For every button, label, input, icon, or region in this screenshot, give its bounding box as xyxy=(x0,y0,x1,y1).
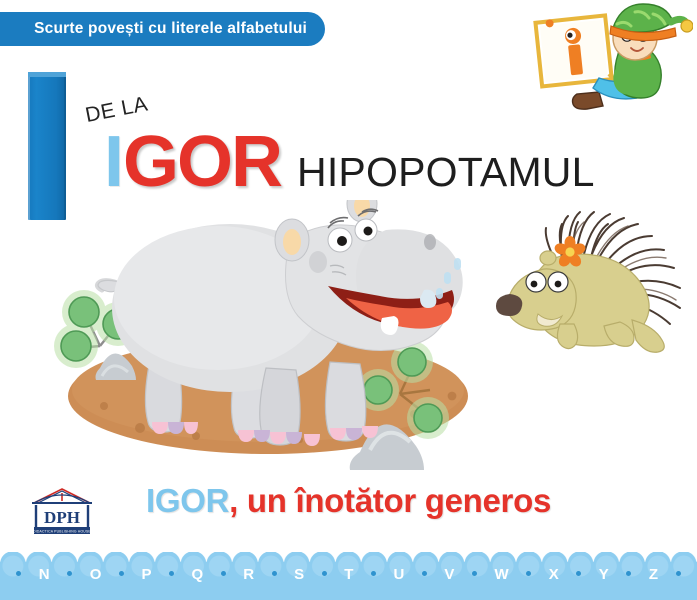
publisher-tagline: DIDACTICA PUBLISHING HOUSE xyxy=(33,529,91,533)
alphabet-letter-x: X xyxy=(549,566,559,583)
publisher-logo: DPH DIDACTICA PUBLISHING HOUSE xyxy=(22,487,102,537)
alphabet-letter-o: O xyxy=(90,566,102,583)
alphabet-dot xyxy=(221,571,226,576)
alphabet-dot xyxy=(422,571,427,576)
alphabet-letter-z: Z xyxy=(649,566,658,583)
alphabet-cell: Y xyxy=(599,568,609,585)
title-name-rest: GOR xyxy=(123,128,281,196)
alphabet-dot xyxy=(16,571,21,576)
alphabet-letter-q: Q xyxy=(192,566,204,583)
alphabet-dot xyxy=(626,571,631,576)
alphabet-cell: T xyxy=(344,568,353,585)
alphabet-cell: Z xyxy=(649,568,658,585)
subtitle-name: IGOR xyxy=(146,482,229,519)
alphabet-dot xyxy=(322,571,327,576)
alphabet-cell: R xyxy=(243,568,254,585)
title-animal: HIPOPOTAMUL xyxy=(297,152,595,193)
alphabet-cell: X xyxy=(549,568,559,585)
alphabet-cell: W xyxy=(494,568,508,585)
series-banner: Scurte povești cu literele alfabetului xyxy=(0,12,325,46)
alphabet-letter-t: T xyxy=(344,566,353,583)
alphabet-cell: O xyxy=(90,568,102,585)
alphabet-letter-v: V xyxy=(444,566,454,583)
alphabet-cell: N xyxy=(39,568,50,585)
subtitle: IGOR, un înotător generos xyxy=(0,482,697,520)
page-title: I GOR HIPOPOTAMUL xyxy=(104,128,595,196)
big-letter-i xyxy=(28,72,66,220)
alphabet-cell: P xyxy=(141,568,151,585)
alphabet-letter-s: S xyxy=(294,566,304,583)
alphabet-strip: NOPQRSTUVWXYZ xyxy=(0,552,697,600)
hippo-eye-left xyxy=(328,218,352,252)
illustration-scene xyxy=(0,200,697,470)
alphabet-letters: NOPQRSTUVWXYZ xyxy=(0,552,697,600)
hippo-ear-left xyxy=(275,219,309,261)
alphabet-dot xyxy=(472,571,477,576)
publisher-name: DPH xyxy=(44,508,80,527)
porcupine xyxy=(496,212,680,352)
alphabet-letter-r: R xyxy=(243,566,254,583)
alphabet-dot xyxy=(576,571,581,576)
series-banner-text: Scurte povești cu literele alfabetului xyxy=(34,20,307,38)
alphabet-cell: U xyxy=(393,568,404,585)
alphabet-cell: V xyxy=(444,568,454,585)
alphabet-dot xyxy=(169,571,174,576)
alphabet-dot xyxy=(371,571,376,576)
elf-with-letter-sign xyxy=(517,2,693,118)
title-name-initial: I xyxy=(104,128,123,196)
alphabet-letter-y: Y xyxy=(599,566,609,583)
alphabet-letter-n: N xyxy=(39,566,50,583)
alphabet-dot xyxy=(67,571,72,576)
book-cover: Scurte povești cu literele alfabetului D… xyxy=(0,0,697,600)
alphabet-dot xyxy=(119,571,124,576)
alphabet-letter-w: W xyxy=(494,566,508,583)
alphabet-cell: Q xyxy=(192,568,204,585)
alphabet-dot xyxy=(272,571,277,576)
alphabet-dot xyxy=(676,571,681,576)
alphabet-dot xyxy=(526,571,531,576)
subtitle-rest: , un înotător generos xyxy=(229,482,551,519)
alphabet-cell: S xyxy=(294,568,304,585)
alphabet-letter-u: U xyxy=(393,566,404,583)
alphabet-letter-p: P xyxy=(141,566,151,583)
